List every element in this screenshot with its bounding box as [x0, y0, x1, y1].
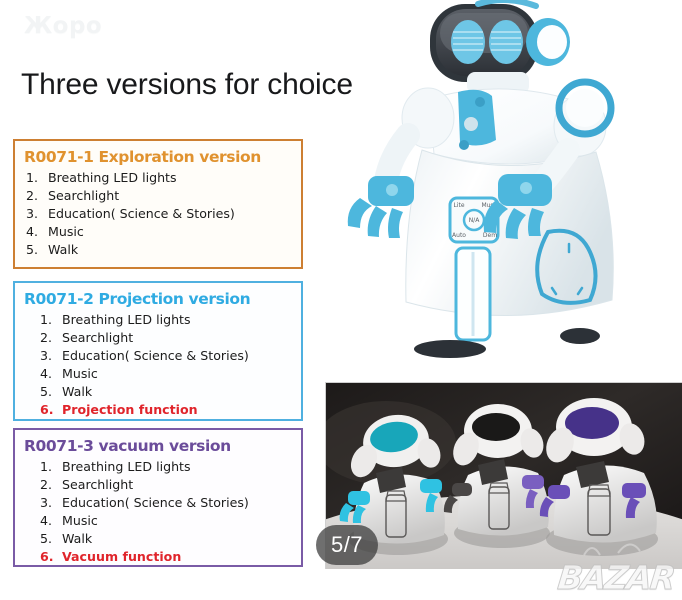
list-item-number: 6. [40, 401, 62, 419]
list-item-label: Music [48, 223, 84, 241]
list-item-number: 5. [26, 241, 48, 259]
list-item-number: 5. [40, 530, 62, 548]
version-title-vacuum: R0071-3 vacuum version [24, 436, 294, 456]
list-item-label: Music [62, 512, 98, 530]
svg-text:Lite: Lite [453, 202, 464, 209]
list-item-number: 1. [26, 169, 48, 187]
list-item-label: Breathing LED lights [62, 311, 191, 329]
list-item-label: Breathing LED lights [62, 458, 191, 476]
list-item-number: 3. [40, 347, 62, 365]
list-item-number: 4. [26, 223, 48, 241]
list-item-label: Education( Science & Stories) [48, 205, 235, 223]
list-item-number: 1. [40, 311, 62, 329]
list-item-label: Walk [62, 383, 92, 401]
list-item-label: Education( Science & Stories) [62, 347, 249, 365]
list-item-number: 4. [40, 512, 62, 530]
robot-head [430, 0, 570, 82]
list-item: 2. Searchlight [40, 476, 294, 494]
version-title-exploration: R0071-1 Exploration version [24, 147, 294, 167]
list-item: 4. Music [40, 365, 294, 383]
list-item: 3. Education( Science & Stories) [40, 347, 294, 365]
version-box-projection: R0071-2 Projection version 1. Breathing … [13, 281, 303, 421]
list-item: 2. Searchlight [26, 187, 294, 205]
list-item: 5. Walk [40, 530, 294, 548]
list-item-number: 2. [40, 476, 62, 494]
list-item-highlight: 6. Vacuum function [40, 548, 294, 566]
list-item-label: Projection function [62, 401, 198, 419]
list-item-label: Searchlight [48, 187, 119, 205]
version-box-exploration: R0071-1 Exploration version 1. Breathing… [13, 139, 303, 269]
feature-list-exploration: 1. Breathing LED lights 2. Searchlight 3… [22, 169, 294, 258]
list-item: 5. Walk [26, 241, 294, 259]
list-item-label: Walk [62, 530, 92, 548]
list-item: 1. Breathing LED lights [26, 169, 294, 187]
version-title-projection: R0071-2 Projection version [24, 289, 294, 309]
robot-group-photo [325, 382, 682, 569]
list-item-label: Breathing LED lights [48, 169, 177, 187]
list-item: 4. Music [26, 223, 294, 241]
robot-left-arm [348, 135, 414, 238]
list-item-number: 2. [40, 329, 62, 347]
watermark-bazar: BAZAR [557, 561, 676, 594]
list-item: 3. Education( Science & Stories) [40, 494, 294, 512]
watermark-seller-name: Жоро [24, 13, 102, 39]
svg-text:Dem: Dem [483, 232, 497, 239]
list-item-label: Vacuum function [62, 548, 181, 566]
version-box-vacuum: R0071-3 vacuum version 1. Breathing LED … [13, 428, 303, 567]
list-item: 4. Music [40, 512, 294, 530]
list-item-number: 6. [40, 548, 62, 566]
svg-text:N/A: N/A [469, 217, 481, 224]
feature-list-vacuum: 1. Breathing LED lights 2. Searchlight 3… [22, 458, 294, 565]
list-item-label: Searchlight [62, 329, 133, 347]
feature-list-projection: 1. Breathing LED lights 2. Searchlight 3… [22, 311, 294, 418]
list-item-number: 1. [40, 458, 62, 476]
list-item-number: 2. [26, 187, 48, 205]
svg-text:Auto: Auto [452, 232, 466, 239]
list-item-highlight: 6. Projection function [40, 401, 294, 419]
list-item-label: Walk [48, 241, 78, 259]
list-item-number: 5. [40, 383, 62, 401]
list-item-number: 3. [40, 494, 62, 512]
list-item: 3. Education( Science & Stories) [26, 205, 294, 223]
list-item-number: 4. [40, 365, 62, 383]
list-item: 1. Breathing LED lights [40, 458, 294, 476]
list-item-label: Searchlight [62, 476, 133, 494]
list-item-label: Music [62, 365, 98, 383]
page-indicator: 5/7 [316, 525, 378, 565]
list-item-number: 3. [26, 205, 48, 223]
list-item: 2. Searchlight [40, 329, 294, 347]
list-item-label: Education( Science & Stories) [62, 494, 249, 512]
list-item: 5. Walk [40, 383, 294, 401]
list-item: 1. Breathing LED lights [40, 311, 294, 329]
page-title: Three versions for choice [21, 68, 353, 102]
robot-product-illustration: Lite Music N/A Auto Dem [330, 0, 682, 380]
